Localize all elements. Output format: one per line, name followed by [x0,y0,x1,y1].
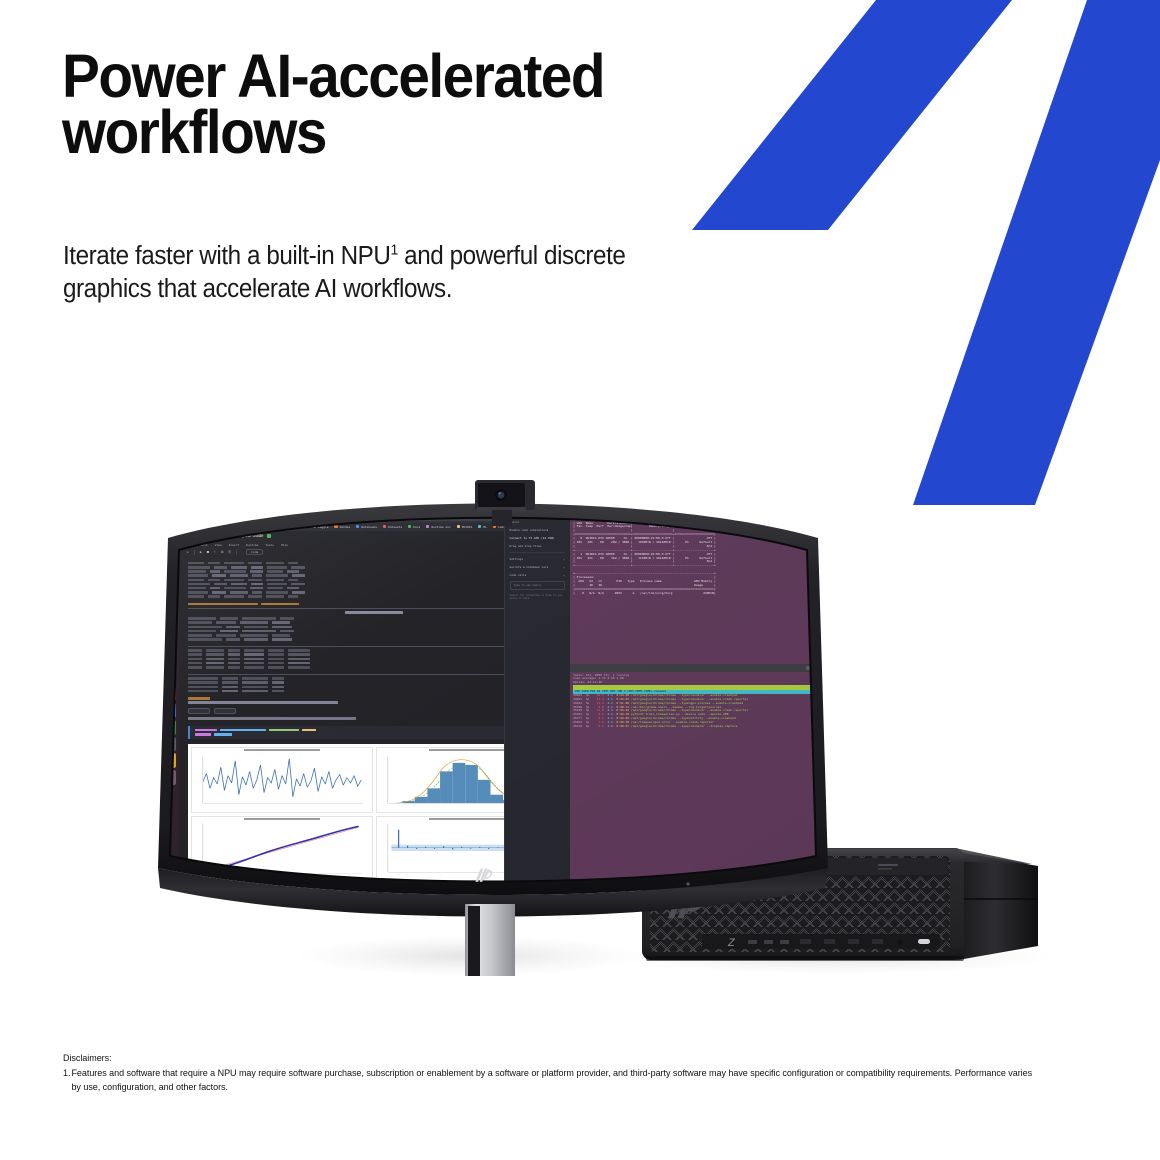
disclaimer-item: 1. Features and software that require a … [63,1067,1036,1096]
tower-optical-slot [878,864,898,866]
tower-optical-slot-2 [878,868,892,870]
tower-side-panel [958,852,1038,960]
curved-ultrawide-monitor: Activities Firefox [128,476,858,976]
product-scene: Activities Firefox [0,0,1160,1160]
tower-side-seam [960,898,1038,900]
disclaimer-item-number: 1. [63,1067,71,1096]
tower-headphone-jack [898,940,903,945]
disclaimer-heading: Disclaimers: [63,1052,1036,1067]
monitor-webcam [128,476,858,976]
disclaimer-item-text: Features and software that require a NPU… [71,1067,1035,1096]
disclaimer-block: Disclaimers: 1. Features and software th… [63,1052,1036,1096]
tower-power-button [918,939,930,944]
